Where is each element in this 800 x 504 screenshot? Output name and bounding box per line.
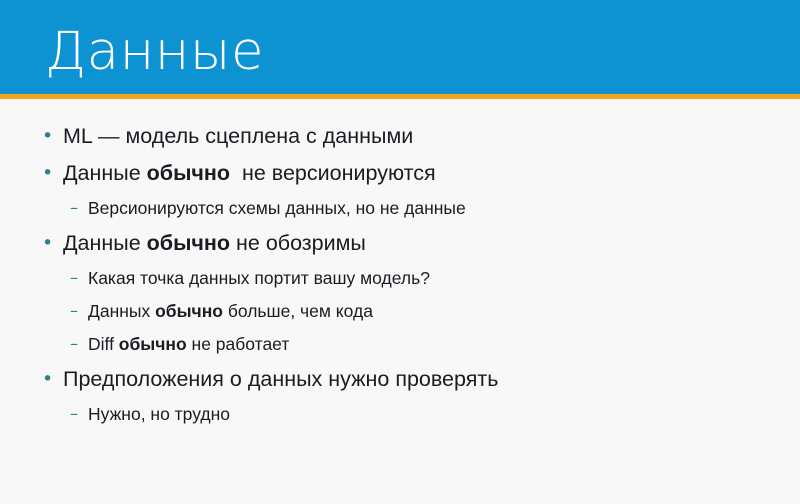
sub-bullet-item: –Версионируются схемы данных, но не данн… <box>0 192 800 225</box>
bullet-text: Какая точка данных портит вашу модель? <box>88 268 430 288</box>
bullet-text: Нужно, но трудно <box>88 404 230 424</box>
bullet-item: •Данные обычно не обозримы <box>0 225 800 262</box>
bullet-text: ML — модель сцеплена с данными <box>63 124 413 148</box>
bullet-text: Данные обычно не обозримы <box>63 231 366 255</box>
bullet-text: Diff обычно не работает <box>88 334 289 354</box>
bullet-dot-icon: • <box>42 118 53 155</box>
bullet-dash-icon: – <box>70 328 78 359</box>
bullet-item: •Данные обычно не версионируются <box>0 155 800 192</box>
bullet-dot-icon: • <box>42 225 53 262</box>
bullet-dash-icon: – <box>70 192 78 223</box>
bullet-dash-icon: – <box>70 398 78 429</box>
sub-bullet-item: –Нужно, но трудно <box>0 398 800 431</box>
slide: Данные •ML — модель сцеплена с данными•Д… <box>0 0 800 504</box>
bullet-dot-icon: • <box>42 155 53 192</box>
page-title: Данные <box>45 22 264 82</box>
sub-bullet-item: –Какая точка данных портит вашу модель? <box>0 262 800 295</box>
bullet-text: Предположения о данных нужно проверять <box>63 367 498 391</box>
sub-bullet-item: –Данных обычно больше, чем кода <box>0 295 800 328</box>
bullet-item: •Предположения о данных нужно проверять <box>0 361 800 398</box>
bullet-dot-icon: • <box>42 361 53 398</box>
accent-divider <box>0 94 800 99</box>
bullet-text: Данные обычно не версионируются <box>63 161 436 185</box>
bullet-text: Версионируются схемы данных, но не данны… <box>88 198 466 218</box>
bullet-text: Данных обычно больше, чем кода <box>88 301 373 321</box>
sub-bullet-item: –Diff обычно не работает <box>0 328 800 361</box>
bullet-dash-icon: – <box>70 262 78 293</box>
bullet-dash-icon: – <box>70 295 78 326</box>
bullet-item: •ML — модель сцеплена с данными <box>0 118 800 155</box>
bullet-list: •ML — модель сцеплена с данными•Данные о… <box>0 118 800 431</box>
